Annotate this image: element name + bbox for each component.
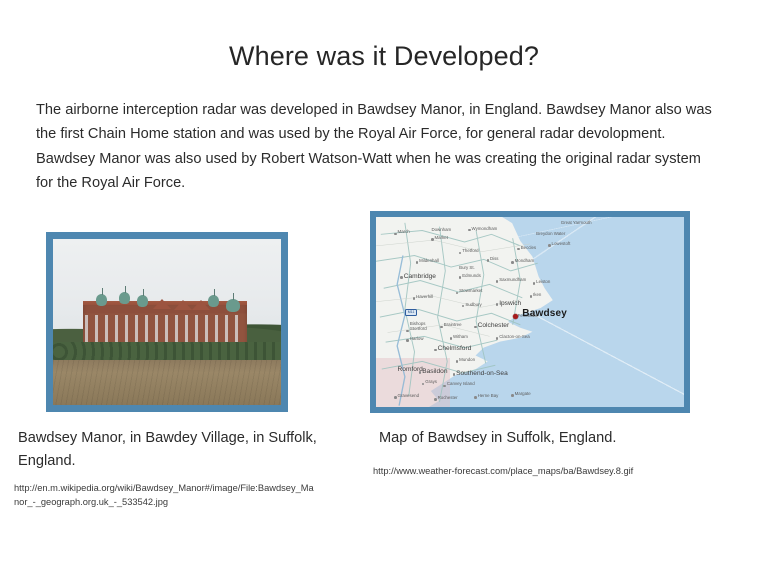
map-place-dot (450, 337, 453, 340)
map-place-label: Margate (515, 392, 531, 397)
map-place-label: Ipswich (499, 301, 521, 308)
map-place-label: Braintree (444, 323, 462, 328)
map-place-label: Cambridge (404, 274, 436, 281)
map-place-dot (416, 261, 419, 264)
map-place-dot (434, 398, 437, 401)
map-place-label: Haverhill (416, 295, 433, 300)
map-place-dot (406, 339, 409, 342)
map-place-dot (431, 238, 434, 241)
map-place-label: Mildenhall (419, 259, 439, 264)
map-place-label: Herne Bay (478, 394, 499, 399)
photo-ploughed-field (53, 360, 281, 405)
photo-scene (53, 239, 281, 405)
map-place-dot (400, 276, 403, 279)
map-place-label: Thetford (462, 249, 478, 254)
map-place-label: Grays (425, 380, 437, 385)
photo-caption: Bawdsey Manor, in Bawdey Village, in Suf… (18, 427, 328, 473)
map-place-dot (456, 360, 459, 363)
map-place-dot (548, 244, 551, 247)
photo-gable (174, 300, 192, 310)
photo-source-url: http://en.m.wikipedia.org/wiki/Bawdsey_M… (14, 481, 314, 510)
map-source-url: http://www.weather-forecast.com/place_ma… (373, 464, 673, 478)
map-place-label: Saxmundham (499, 278, 526, 283)
bawdsey-manor-photo-frame (46, 232, 288, 412)
map-place-label: Breydon Water (536, 232, 565, 237)
bawdsey-map: M11 MarchDownhamMarketWymondhamGreat Yar… (376, 217, 684, 407)
photo-copper-dome (208, 295, 219, 307)
map-place-label: Mondham (515, 259, 535, 264)
map-place-label: Leiston (536, 280, 550, 285)
map-place-label: March (398, 230, 410, 235)
map-place-dot (487, 259, 490, 262)
map-place-dot (394, 396, 397, 399)
page-title: Where was it Developed? (0, 41, 768, 72)
map-place-label: Mundon (459, 358, 475, 363)
map-place-label: Rochester (438, 396, 458, 401)
photo-gable (153, 299, 171, 309)
motorway-shield-m11: M11 (405, 309, 417, 316)
map-place-label: Market (435, 236, 448, 241)
map-place-dot (406, 330, 409, 333)
map-place-label: Stortford (410, 327, 427, 332)
map-place-dot (474, 396, 477, 399)
map-place-label: Beccles (521, 246, 536, 251)
map-place-label: Stowmarket (459, 289, 482, 294)
map-place-label: Basildon (422, 369, 447, 376)
map-place-label: Bury St. (459, 266, 475, 271)
map-place-label: Southend-on-Sea (456, 371, 508, 378)
map-place-label: Gravesend (398, 394, 419, 399)
bawdsey-map-label: Bawdsey (522, 309, 567, 320)
map-place-label: Wymondham (471, 227, 497, 232)
map-place-label: Colchester (478, 323, 510, 330)
photo-copper-dome (96, 294, 107, 306)
map-place-label: Harlow (410, 337, 424, 342)
map-place-dot (533, 282, 536, 285)
map-place-dot (434, 349, 437, 352)
map-place-dot (511, 394, 514, 397)
map-place-dot (511, 261, 514, 264)
map-place-dot (413, 297, 416, 300)
bawdsey-manor-photo (53, 239, 281, 405)
map-place-label: Diss (490, 257, 499, 262)
photo-copper-dome (226, 299, 240, 312)
map-place-label: Iken (533, 293, 541, 298)
map-place-dot (394, 233, 397, 236)
map-place-label: Chelmsford (438, 346, 472, 353)
map-place-dot (496, 303, 499, 306)
bawdsey-map-frame: M11 MarchDownhamMarketWymondhamGreat Yar… (370, 211, 690, 413)
map-place-label: Witham (453, 335, 468, 340)
map-place-dot (453, 373, 456, 376)
map-place-label: Edmunds (462, 274, 481, 279)
map-place-label: Great Yarmouth (561, 221, 592, 226)
map-place-label: Sudbury (465, 303, 481, 308)
map-place-label: Clacton-on-Sea (499, 335, 530, 340)
photo-copper-dome (119, 292, 130, 304)
map-place-label: Canvey Island (447, 382, 475, 387)
map-scene: M11 MarchDownhamMarketWymondhamGreat Yar… (376, 217, 684, 407)
map-caption: Map of Bawdsey in Suffolk, England. (379, 427, 699, 450)
bawdsey-map-marker (513, 314, 518, 319)
body-paragraph: The airborne interception radar was deve… (36, 98, 712, 195)
map-place-label: Lowestoft (552, 242, 571, 247)
map-place-label: Downham (431, 228, 451, 233)
